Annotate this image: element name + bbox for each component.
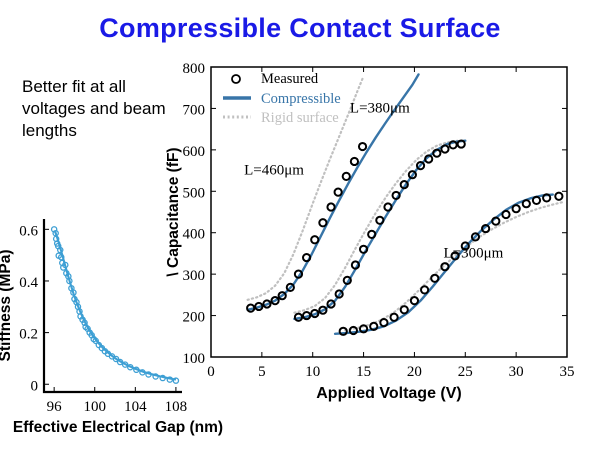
cv-y-tick-label: 100 <box>183 351 206 367</box>
stiffness-x-tick-label: 96 <box>47 399 63 415</box>
cv-curve-annotation-2: L=380μm <box>350 101 410 117</box>
stiffness-y-tick-label: 0 <box>31 378 39 394</box>
legend-compressible-label: Compressible <box>261 91 341 107</box>
cv-x-tick-label: 15 <box>356 364 371 380</box>
cv-y-tick-label: 300 <box>183 268 206 284</box>
cv-x-tick-label: 30 <box>509 364 524 380</box>
capacitance-voltage-chart: 10020030040050060070080005101520253035\ … <box>160 58 600 418</box>
legend-measured-label: Measured <box>261 71 319 87</box>
cv-y-tick-label: 200 <box>183 310 206 326</box>
cv-y-tick-label: 600 <box>183 144 206 160</box>
cv-y-tick-label: 700 <box>183 102 206 118</box>
cv-y-tick-label: 800 <box>183 61 206 77</box>
slide-canvas: Compressible Contact Surface Better fit … <box>0 0 600 450</box>
cv-x-tick-label: 25 <box>458 364 473 380</box>
stiffness-x-tick-label: 104 <box>124 399 147 415</box>
stiffness-y-axis-title: Stiffness (MPa) <box>0 250 14 362</box>
stiffness-x-tick-label: 100 <box>83 399 106 415</box>
cv-y-tick-label: 500 <box>183 185 206 201</box>
page-title: Compressible Contact Surface <box>0 13 600 44</box>
cv-y-axis-title: \ Capacitance (fF) <box>165 147 182 276</box>
stiffness-y-tick-label: 0.2 <box>19 327 38 343</box>
cv-x-tick-label: 20 <box>407 364 422 380</box>
cv-y-tick-label: 400 <box>183 227 206 243</box>
cv-x-tick-label: 35 <box>560 364 575 380</box>
cv-x-tick-label: 10 <box>305 364 320 380</box>
cv-x-axis-title: Applied Voltage (V) <box>316 385 461 402</box>
stiffness-y-tick-label: 0.6 <box>19 223 38 239</box>
capacitance-voltage-chart-svg: 10020030040050060070080005101520253035\ … <box>160 58 600 418</box>
cv-x-tick-label: 0 <box>207 364 215 380</box>
cv-x-tick-label: 5 <box>258 364 266 380</box>
cv-curve-annotation-1: L=460μm <box>244 163 304 179</box>
cv-curve-annotation-3: L=300μm <box>444 246 504 262</box>
legend-rigid-label: Rigid surface <box>261 110 339 126</box>
stiffness-x-axis-title: Effective Electrical Gap (nm) <box>13 419 223 436</box>
stiffness-y-tick-label: 0.4 <box>19 275 38 291</box>
